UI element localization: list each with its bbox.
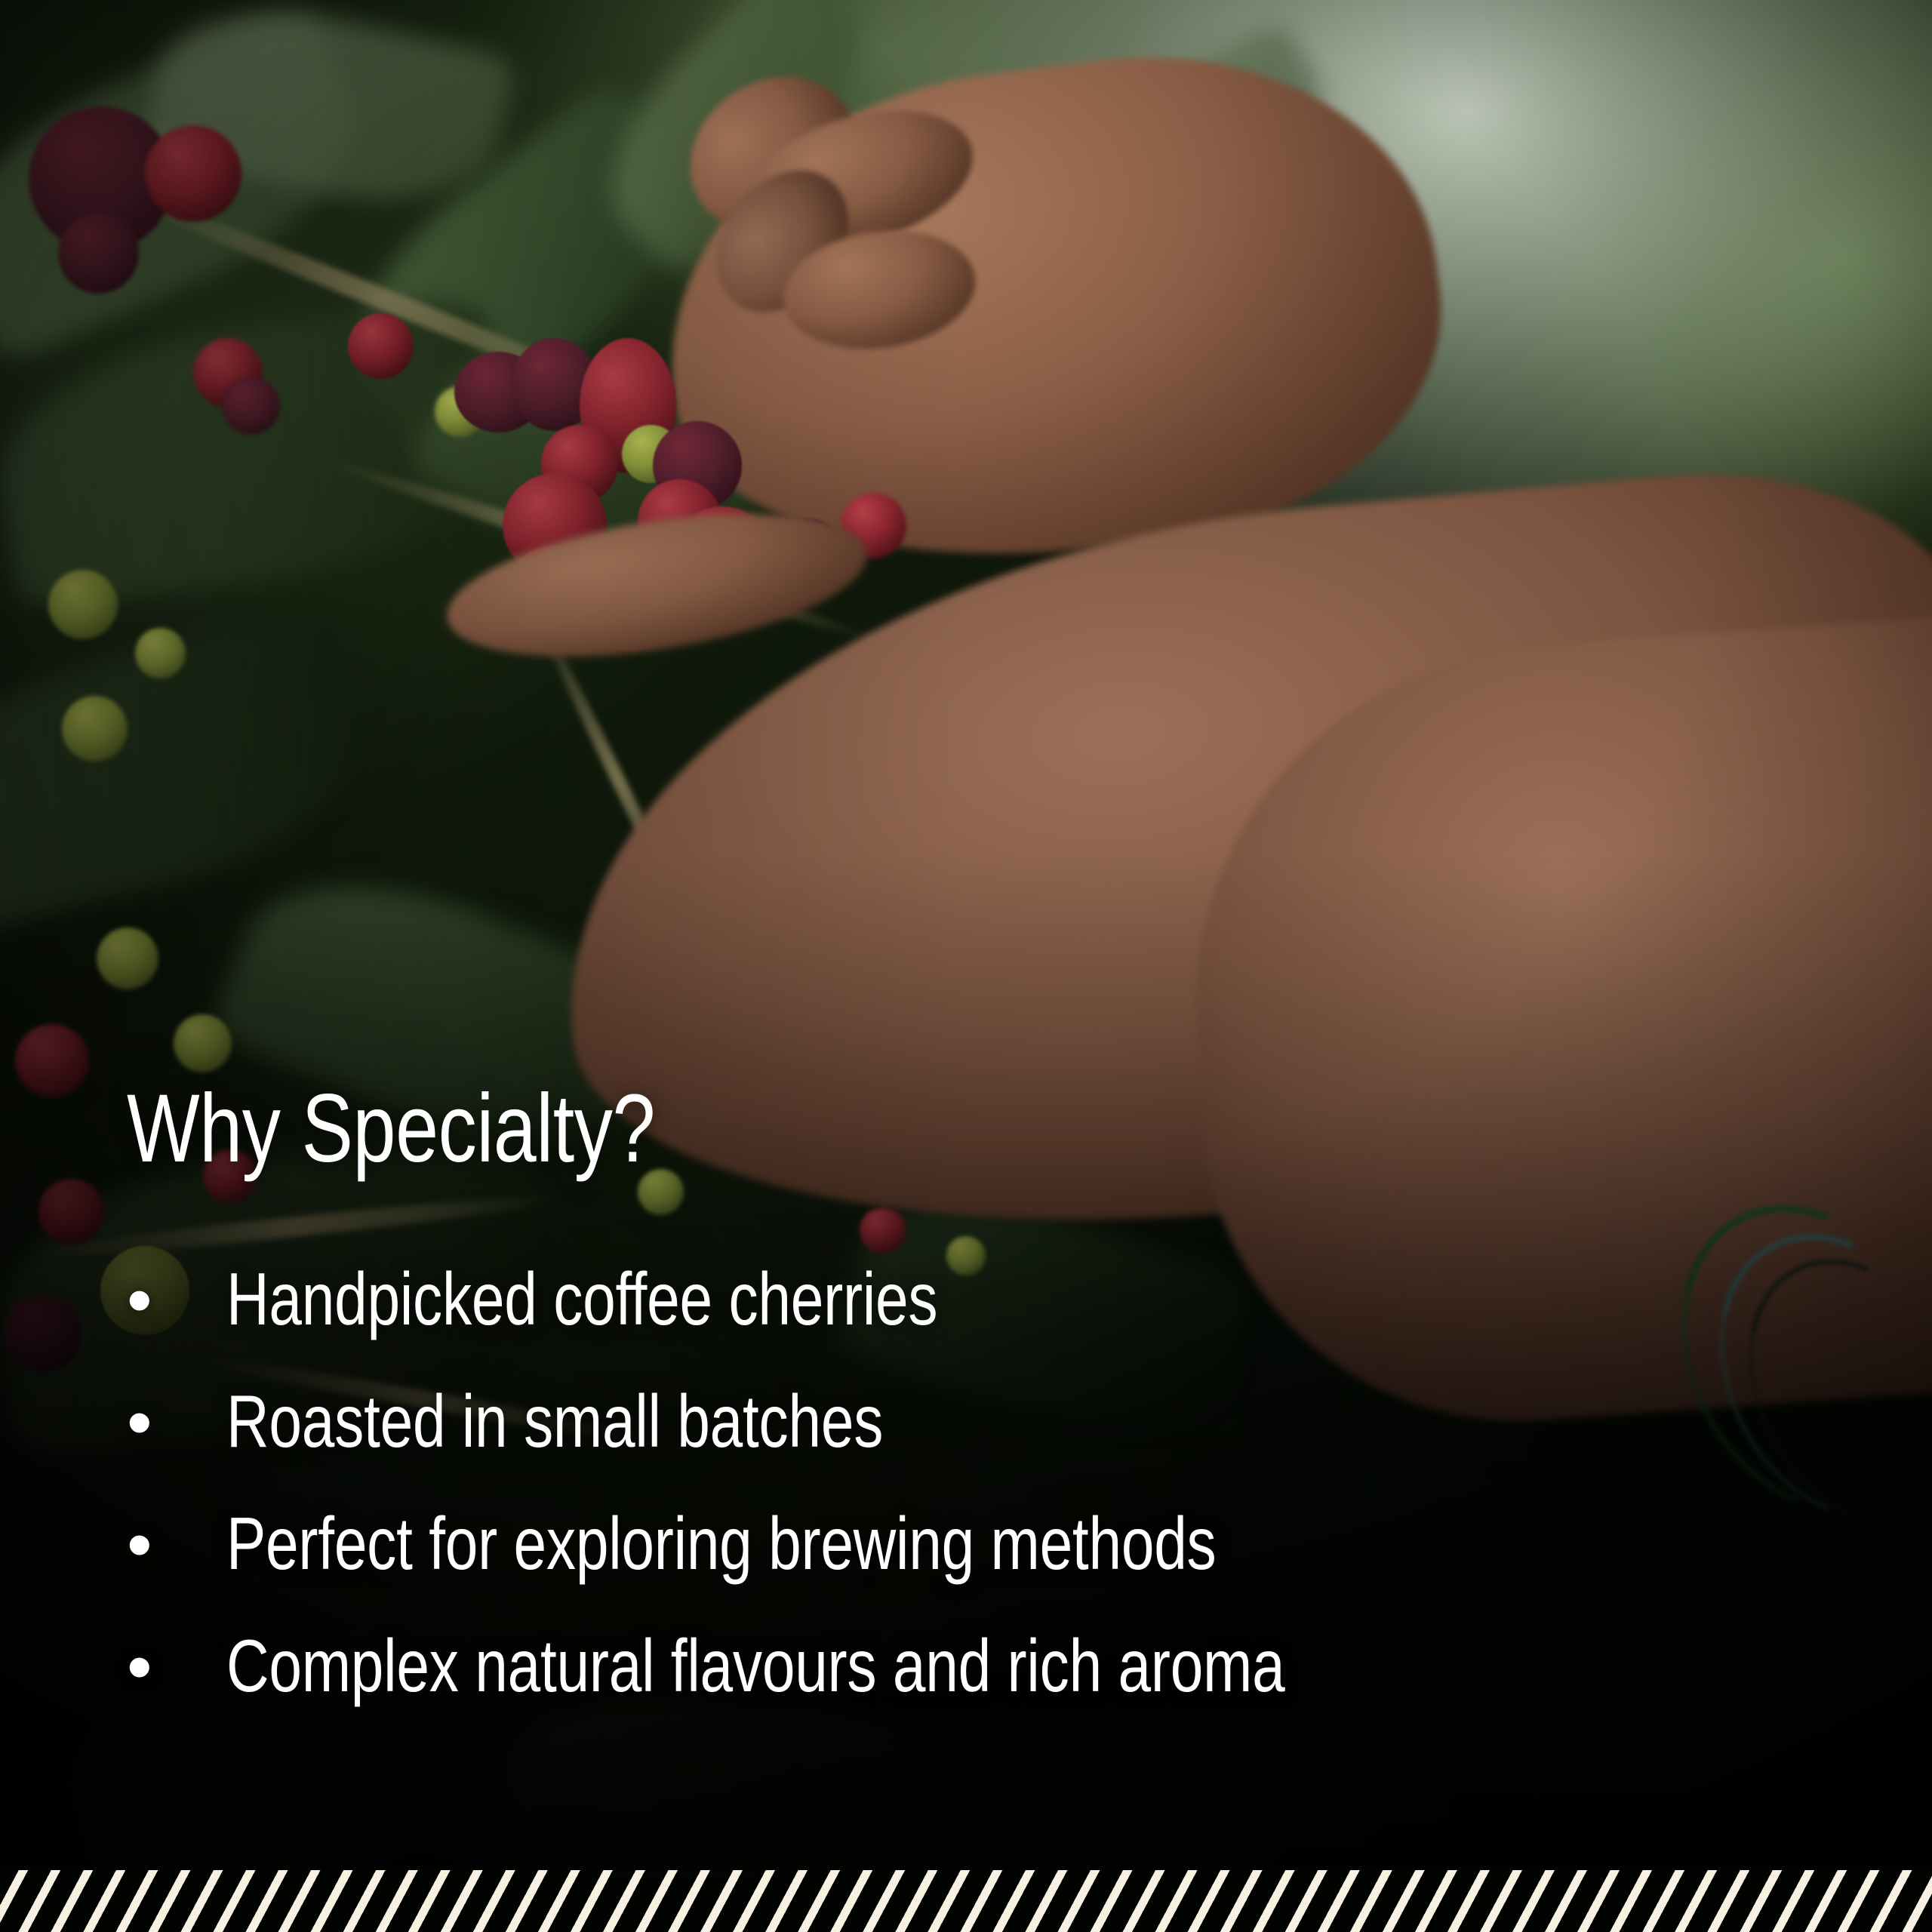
- page-title: Why Specialty?: [127, 1081, 1395, 1177]
- coffee-cherry: [4, 1294, 81, 1371]
- bullet-icon: •: [127, 1390, 226, 1455]
- coffee-cherry: [97, 928, 158, 989]
- list-item: • Roasted in small batches: [127, 1384, 1712, 1458]
- list-item-label: Complex natural flavours and rich aroma: [226, 1629, 1285, 1703]
- coffee-cherry: [222, 377, 280, 435]
- bullet-icon: •: [127, 1268, 226, 1333]
- coffee-cherry: [135, 628, 186, 678]
- coffee-cherry: [58, 213, 140, 294]
- list-item-label: Handpicked coffee cherries: [226, 1262, 937, 1336]
- coffee-cherry: [174, 1014, 232, 1072]
- coffee-cherry: [15, 1024, 88, 1097]
- list-item-label: Roasted in small batches: [226, 1384, 883, 1458]
- slide-canvas: Why Specialty? • Handpicked coffee cherr…: [0, 0, 1932, 1932]
- text-overlay: Why Specialty? • Handpicked coffee cherr…: [127, 1081, 1712, 1703]
- coffee-cherry: [38, 1179, 104, 1244]
- list-item: • Handpicked coffee cherries: [127, 1262, 1712, 1336]
- coffee-cherry: [348, 313, 414, 379]
- coffee-cherry: [62, 696, 128, 761]
- coffee-cherry: [48, 570, 118, 639]
- list-item-label: Perfect for exploring brewing methods: [226, 1506, 1217, 1580]
- diagonal-stripe-band: [0, 1870, 1932, 1932]
- benefits-list: • Handpicked coffee cherries • Roasted i…: [127, 1262, 1712, 1703]
- bullet-icon: •: [127, 1635, 226, 1700]
- coffee-cherry: [145, 125, 241, 222]
- list-item: • Complex natural flavours and rich arom…: [127, 1629, 1712, 1703]
- list-item: • Perfect for exploring brewing methods: [127, 1506, 1712, 1580]
- bullet-icon: •: [127, 1512, 226, 1577]
